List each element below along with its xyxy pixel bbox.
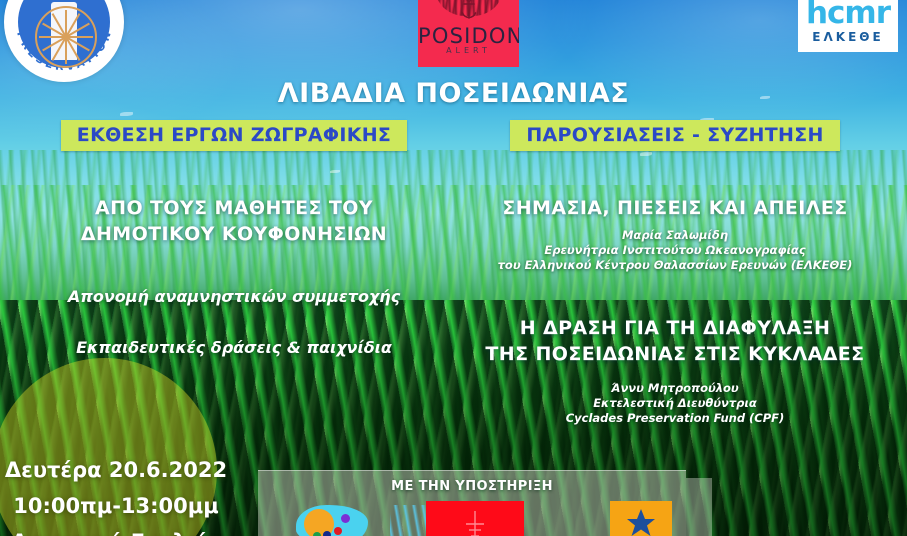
talk1-speaker: Μαρία Σαλωμίδη: [455, 228, 895, 243]
windmill-wheel-icon: [35, 6, 97, 68]
exhibition-band-label: ΕΚΘΕΣΗ ΕΡΓΩΝ ΖΩΓΡΑΦΙΚΗΣ: [61, 120, 407, 151]
star-icon: [626, 508, 656, 536]
page-title: ΛΙΒΑΔΙΑ ΠΟΣΕΙΔΩΝΙΑΣ: [0, 78, 907, 109]
event-details: Δευτέρα 20.6.2022 10:00πμ-13:00μμ Δημοτι…: [0, 452, 232, 536]
event-time: 10:00πμ-13:00μμ: [0, 488, 232, 524]
left-column: ΕΚΘΕΣΗ ΕΡΓΩΝ ΖΩΓΡΑΦΙΚΗΣ ΑΠΟ ΤΟΥΣ ΜΑΘΗΤΕΣ…: [14, 120, 454, 357]
hcmr-logo-title: hcmr: [798, 0, 898, 29]
poster-canvas: PRESERVATION FUND POSIDONI: [0, 0, 907, 536]
right-column: ΠΑΡΟΥΣΙΑΣΕΙΣ - ΣΥΖΗΤΗΣΗ ΣΗΜΑΣΙΑ, ΠΙΕΣΕΙΣ…: [455, 120, 895, 426]
talk1-title: ΣΗΜΑΣΙΑ, ΠΙΕΣΕΙΣ ΚΑΙ ΑΠΕΙΛΕΣ: [455, 195, 895, 221]
presentations-band-label: ΠΑΡΟΥΣΙΑΣΕΙΣ - ΣΥΖΗΤΗΣΗ: [510, 120, 839, 151]
supporter-logo-3: [426, 501, 524, 536]
supporters-panel-edge: [686, 478, 712, 536]
event-date: Δευτέρα 20.6.2022: [0, 452, 232, 488]
supporters-panel: ΜΕ ΤΗΝ ΥΠΟΣΤΗΡΙΞΗ: [258, 470, 686, 536]
exhibition-heading-line1: ΑΠΟ ΤΟΥΣ ΜΑΘΗΤΕΣ ΤΟΥ: [14, 195, 454, 221]
talk2-speaker: Άννυ Μητροπούλου: [455, 381, 895, 396]
fish-icon: [120, 112, 133, 116]
talk2-title-line2: ΤΗΣ ΠΟΣΕΙΔΩΝΙΑΣ ΣΤΙΣ ΚΥΚΛΑΔΕΣ: [455, 341, 895, 367]
talk1-role-line2: του Ελληνικού Κέντρου Θαλασσίων Ερευνών …: [455, 258, 895, 273]
supporter-logo-4: [610, 501, 672, 536]
talk2-role-line2: Cyclades Preservation Fund (CPF): [455, 411, 895, 426]
supporter-3-mark-icon: [464, 511, 486, 536]
cyclades-preservation-fund-logo: PRESERVATION FUND: [4, 0, 124, 82]
posidonia-logo-title: POSIDONIA: [418, 24, 519, 48]
talk2-title-line1: Η ΔΡΑΣΗ ΓΙΑ ΤΗ ΔΙΑΦΥΛΑΞΗ: [455, 315, 895, 341]
exhibition-item-2: Εκπαιδευτικές δράσεις & παιχνίδια: [14, 338, 454, 357]
supporter-logo-1: [296, 505, 368, 536]
talk1-role-line1: Ερευνήτρια Ινστιτούτου Ωκεανογραφίας: [455, 243, 895, 258]
event-venue: Δημοτικό Σχολείο: [0, 524, 232, 536]
hcmr-logo-subtitle: ΕΛΚΕΘΕ: [798, 30, 898, 44]
exhibition-item-1: Απονομή αναμνηστικών συμμετοχής: [14, 287, 454, 306]
posidonia-logo-subtitle: ALERT: [418, 46, 519, 55]
hcmr-logo: hcmr ΕΛΚΕΘΕ: [798, 0, 898, 52]
talk2-role-line1: Εκτελεστική Διευθύντρια: [455, 396, 895, 411]
anchor-icon: [460, 0, 478, 22]
supporters-title: ΜΕ ΤΗΝ ΥΠΟΣΤΗΡΙΞΗ: [258, 479, 686, 494]
exhibition-heading-line2: ΔΗΜΟΤΙΚΟΥ ΚΟΥΦΟΝΗΣΙΩΝ: [14, 221, 454, 247]
posidonia-alert-logo: POSIDONIA ALERT: [418, 0, 519, 67]
